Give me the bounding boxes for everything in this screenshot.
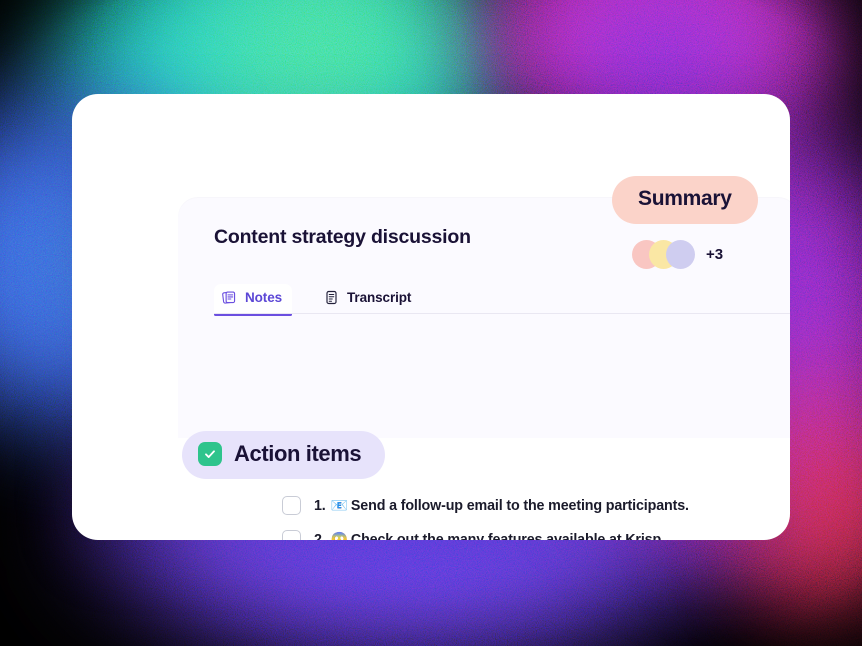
- task-text: Send a follow-up email to the meeting pa…: [351, 498, 689, 514]
- app-card: Content strategy discussion Notes: [72, 94, 790, 540]
- meeting-panel: Content strategy discussion Notes: [178, 198, 790, 438]
- task-number: 2.: [314, 532, 326, 541]
- tab-notes[interactable]: Notes: [214, 284, 292, 314]
- email-emoji-icon: 📧: [331, 497, 348, 513]
- transcript-document-icon: [324, 290, 339, 305]
- tabs-divider: [214, 313, 790, 314]
- task-checkbox[interactable]: [282, 530, 301, 541]
- notes-stack-icon: [222, 290, 237, 305]
- task-label: 2.😱Check out the many features available…: [314, 531, 661, 541]
- checked-checkbox-icon: [198, 442, 222, 466]
- tab-notes-label: Notes: [245, 290, 282, 305]
- task-label: 1.📧Send a follow-up email to the meeting…: [314, 497, 689, 514]
- avatar[interactable]: [666, 240, 695, 269]
- summary-badge[interactable]: Summary: [612, 176, 758, 224]
- participants-row[interactable]: +3: [632, 240, 723, 269]
- task-number: 1.: [314, 498, 326, 514]
- list-item[interactable]: 1.📧Send a follow-up email to the meeting…: [282, 488, 790, 522]
- action-items-heading: Action items: [234, 441, 361, 467]
- participants-overflow-count: +3: [706, 246, 723, 263]
- action-items-list: 1.📧Send a follow-up email to the meeting…: [282, 488, 790, 540]
- tab-transcript-label: Transcript: [347, 290, 411, 305]
- task-checkbox[interactable]: [282, 496, 301, 515]
- tab-transcript[interactable]: Transcript: [316, 284, 421, 314]
- tab-bar: Notes Transcript: [214, 284, 421, 314]
- task-text: Check out the many features available at…: [351, 532, 661, 541]
- avatar-stack: [632, 240, 695, 269]
- action-items-badge: Action items: [182, 431, 385, 479]
- list-item[interactable]: 2.😱Check out the many features available…: [282, 522, 790, 540]
- screaming-face-emoji-icon: 😱: [331, 531, 348, 541]
- screenshot-stage: Content strategy discussion Notes: [0, 0, 862, 646]
